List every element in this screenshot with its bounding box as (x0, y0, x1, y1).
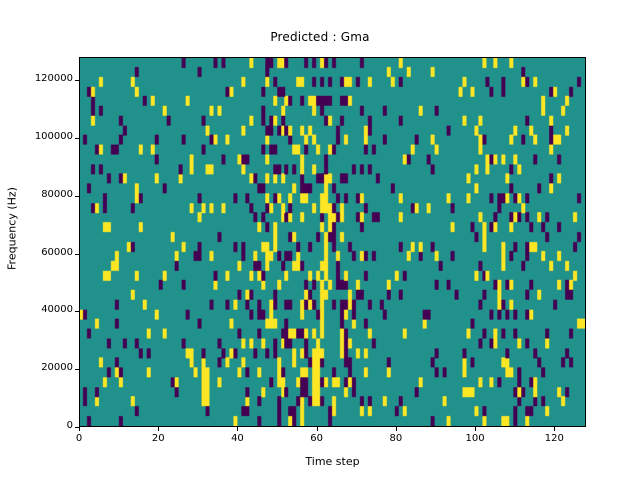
x-tick-label: 60 (287, 433, 347, 444)
x-tick-label: 0 (49, 433, 109, 444)
y-tick-mark (75, 196, 79, 197)
y-tick-label: 120000 (7, 73, 73, 84)
x-tick-mark (554, 427, 555, 431)
y-tick-mark (75, 369, 79, 370)
y-axis-label: Frequency (Hz) (6, 159, 19, 299)
x-tick-mark (158, 427, 159, 431)
y-tick-mark (75, 80, 79, 81)
y-tick-label: 40000 (7, 304, 73, 315)
x-tick-mark (317, 427, 318, 431)
chart-title: Predicted : Gma (0, 30, 640, 44)
x-tick-mark (237, 427, 238, 431)
y-tick-mark (75, 254, 79, 255)
y-tick-mark (75, 138, 79, 139)
x-tick-label: 40 (207, 433, 267, 444)
heatmap-image (80, 58, 585, 426)
y-tick-mark (75, 311, 79, 312)
x-tick-label: 100 (445, 433, 505, 444)
x-tick-label: 80 (366, 433, 426, 444)
y-tick-label: 100000 (7, 131, 73, 142)
matplotlib-figure: Predicted : Gma 020406080100120 02000040… (0, 0, 640, 480)
x-tick-mark (475, 427, 476, 431)
x-axis-label: Time step (79, 455, 586, 468)
x-tick-mark (396, 427, 397, 431)
x-tick-label: 120 (524, 433, 584, 444)
x-tick-mark (79, 427, 80, 431)
x-tick-label: 20 (128, 433, 188, 444)
heatmap-axes (79, 57, 586, 427)
y-tick-mark (75, 427, 79, 428)
y-tick-label: 0 (7, 420, 73, 431)
y-tick-label: 20000 (7, 362, 73, 373)
